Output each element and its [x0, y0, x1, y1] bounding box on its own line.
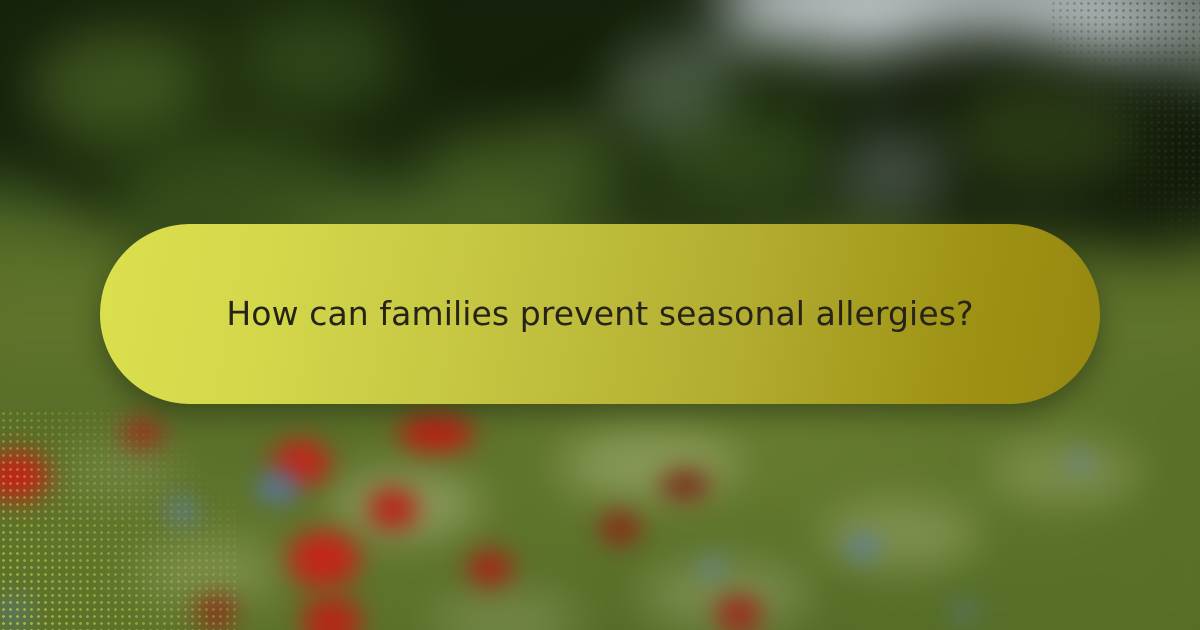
- headline-pill: How can families prevent seasonal allerg…: [100, 224, 1100, 404]
- social-card: How can families prevent seasonal allerg…: [0, 0, 1200, 630]
- headline-text: How can families prevent seasonal allerg…: [226, 293, 973, 334]
